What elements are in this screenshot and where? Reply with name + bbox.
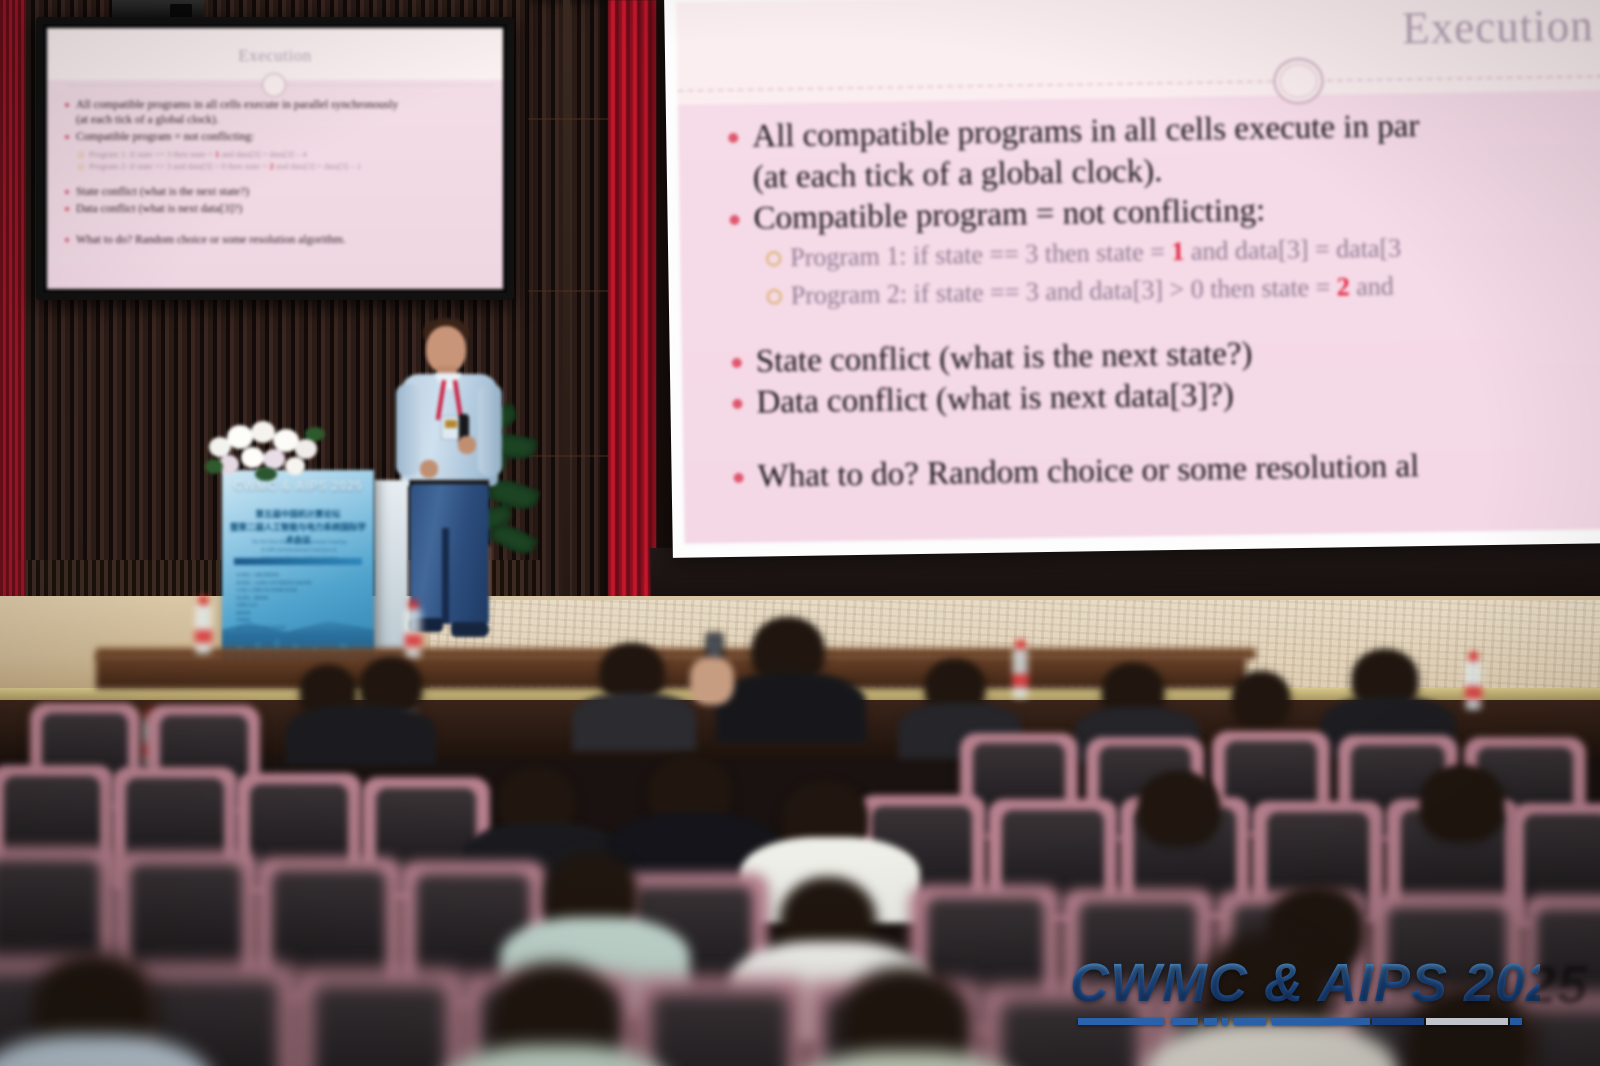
podium-accent-bar xyxy=(234,558,362,565)
slide-title-small: Execution xyxy=(47,46,503,66)
audience-shoulders xyxy=(572,693,696,751)
slide-body-small: All compatible programs in all cells exe… xyxy=(61,98,491,250)
presenter-arm-left xyxy=(396,384,420,476)
stage-curtain-left xyxy=(0,0,26,600)
seat xyxy=(632,977,808,1066)
column-joint xyxy=(528,118,608,120)
slide-bullet: State conflict (what is the next state?) xyxy=(61,185,491,200)
slide-sub-bullet: Program 2: if state == 3 and data[3] > 0… xyxy=(61,160,491,173)
presenter-arm-right xyxy=(478,384,502,476)
column-joint xyxy=(528,455,608,457)
audience-head xyxy=(1138,771,1220,845)
event-watermark: CWMC & AIPS 2025 xyxy=(1070,952,1540,1025)
watermark-accent-bar xyxy=(1070,1018,1522,1025)
column-seam xyxy=(563,0,570,625)
confidence-monitor: Execution All compatible programs in all… xyxy=(36,17,514,300)
slide-bullet: All compatible programs in all cells exe… xyxy=(61,98,491,128)
slide-bullet: Compatible program = not conflicting: xyxy=(61,130,491,145)
projected-slide: Execution All compatible programs in all… xyxy=(676,0,1600,544)
seat xyxy=(294,969,466,1066)
audience-shoulders xyxy=(286,705,436,765)
projection-screen: Execution All compatible programs in all… xyxy=(664,0,1600,558)
slide-bullet: What to do? Random choice or some resolu… xyxy=(61,233,491,248)
presenter-hand-left xyxy=(420,460,438,478)
flower-arrangement xyxy=(205,415,330,485)
name-badge xyxy=(441,416,459,440)
raised-hand xyxy=(690,657,734,705)
stage-curtain-red xyxy=(608,0,656,620)
slide-divider xyxy=(678,74,1600,91)
slide-bullet: Data conflict (what is next data[3]?) xyxy=(61,202,491,217)
slide-body: All compatible programs in all cells exe… xyxy=(714,102,1600,498)
audience-head xyxy=(1420,765,1504,841)
presenter-hand-right xyxy=(458,436,476,454)
column-joint xyxy=(528,290,608,292)
audience-head xyxy=(1232,671,1290,725)
stone-column xyxy=(528,0,608,625)
slide-title: Execution xyxy=(1402,0,1594,54)
audience-shoulders xyxy=(716,673,866,743)
monitor-screen: Execution All compatible programs in all… xyxy=(47,28,503,289)
auditorium-photo: Execution All compatible programs in all… xyxy=(0,0,1600,1066)
slide-sub-bullet: Program 1: if state == 3 then state = 1 … xyxy=(61,148,491,161)
watermark-text: CWMC & AIPS 2025 xyxy=(1070,952,1540,1014)
slide-bullet: All compatible programs in all cells exe… xyxy=(714,102,1600,199)
slide-circle-ornament-small xyxy=(262,73,286,97)
slide-circle-ornament xyxy=(1273,58,1324,105)
